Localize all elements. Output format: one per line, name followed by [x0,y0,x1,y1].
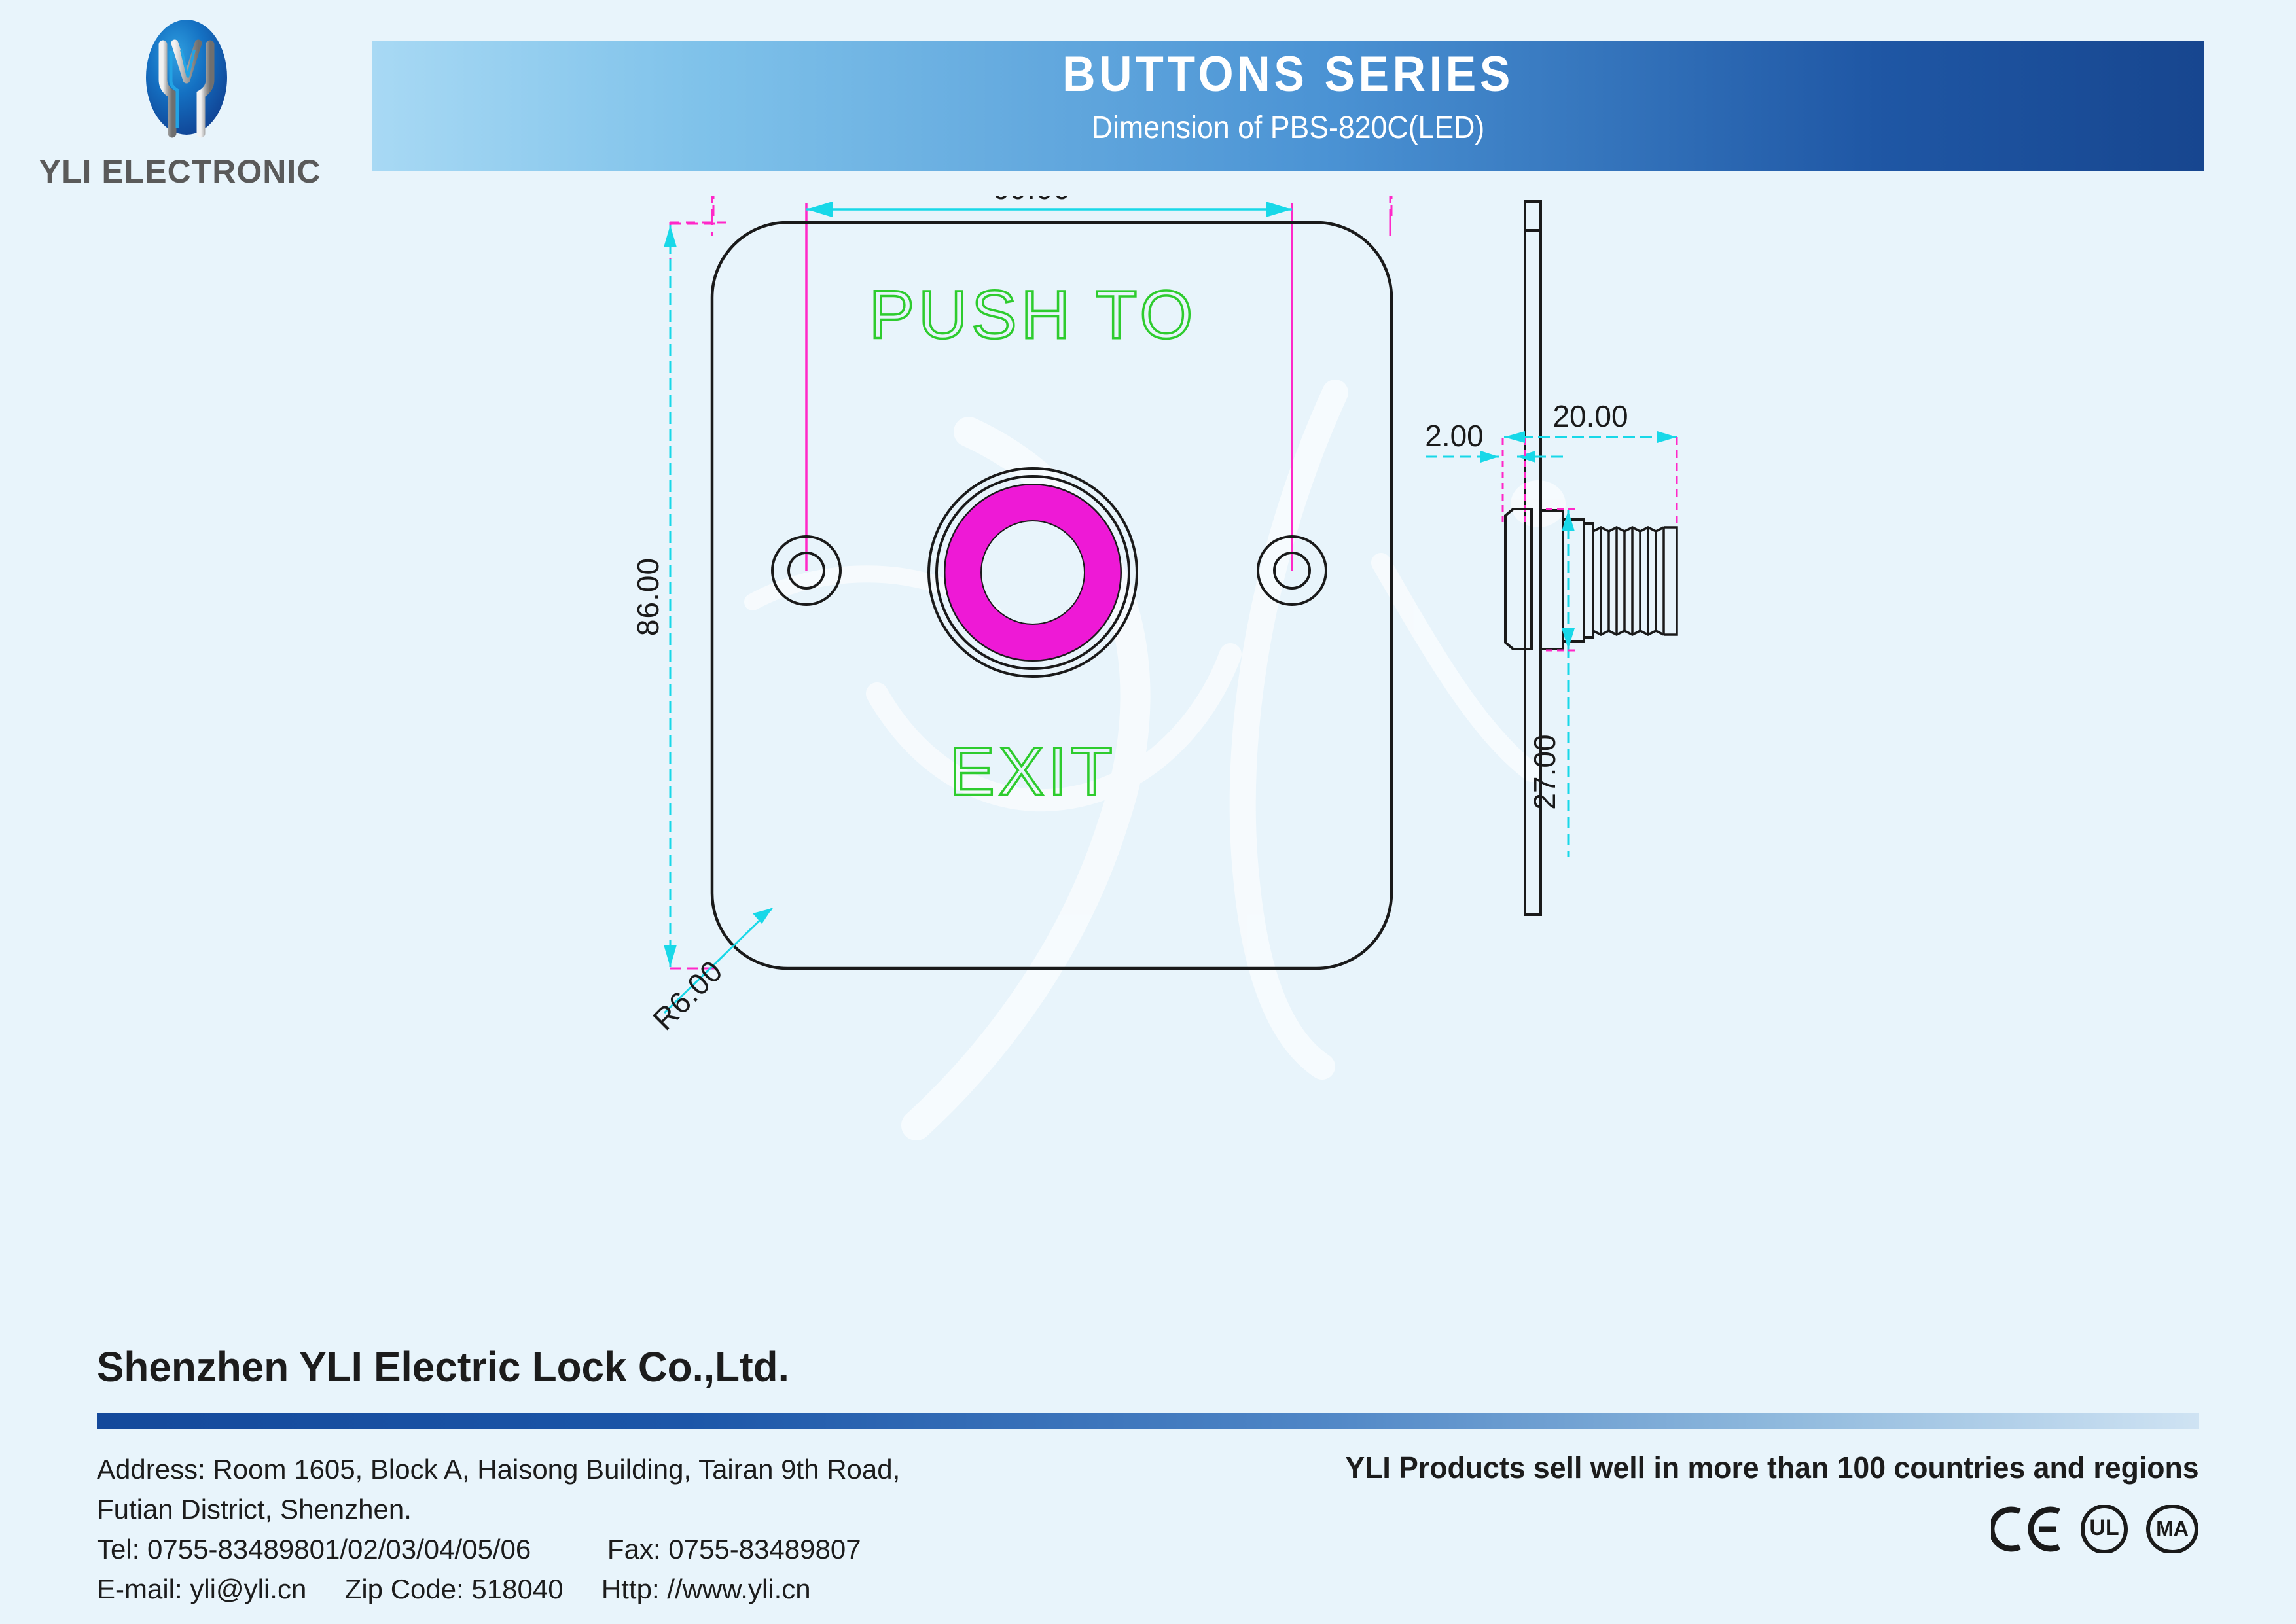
brand-logo: YLI ELECTRONIC [26,12,334,198]
svg-text:MA: MA [2156,1517,2189,1540]
page-title: BUTTONS SERIES [445,50,2131,99]
button-face [981,521,1085,624]
ul-mark-icon: UL [2080,1505,2128,1553]
brand-logo-text: YLI ELECTRONIC [26,152,334,190]
dim-label-86-left: 86.00 [631,557,665,636]
dimension-height-86 [664,225,677,967]
threaded-barrel [1593,527,1677,635]
faceplate-text-push-to: PUSH TO [869,277,1197,353]
faceplate-text-exit: EXIT [949,733,1116,809]
side-view: 2.00 2.00 20.00 [1425,196,1677,915]
contact-phone-fax: Tel: 0755-83489801/02/03/04/05/06 Fax: 0… [97,1534,861,1565]
svg-text:UL: UL [2089,1515,2119,1540]
header-banner: BUTTONS SERIES Dimension of PBS-820C(LED… [372,41,2204,171]
front-view: 86.00 60.00 86.00 R6.00 [631,196,1391,1036]
dim-label-2-left: 2.00 [1425,419,1484,453]
dim-label-27: 27.00 [1528,734,1562,809]
dim-label-20: 20.00 [1552,399,1628,433]
dim-label-60: 60.00 [992,196,1071,205]
contact-email-web: E-mail: yli@yli.cn Zip Code: 518040 Http… [97,1574,811,1605]
address-line-1: Address: Room 1605, Block A, Haisong Bui… [97,1454,900,1485]
ma-mark-icon: MA [2145,1505,2199,1553]
footer-tagline: YLI Products sell well in more than 100 … [1346,1450,2199,1485]
footer-divider-bar [97,1413,2199,1429]
certification-marks: UL MA [1991,1505,2199,1553]
side-body-profile [1505,509,1593,649]
address-line-2: Futian District, Shenzhen. [97,1494,412,1525]
dim-label-r6: R6.00 [646,953,729,1036]
yli-y-ellipse-logo-icon [134,17,239,148]
technical-drawing: 86.00 60.00 86.00 R6.00 [0,196,2296,1256]
led-ring [963,503,1102,642]
page-subtitle: Dimension of PBS-820C(LED) [436,113,2140,144]
ce-mark-icon [1991,1505,2063,1553]
background-watermark [753,393,1566,1125]
company-name: Shenzhen YLI Electric Lock Co.,Ltd. [97,1343,789,1391]
